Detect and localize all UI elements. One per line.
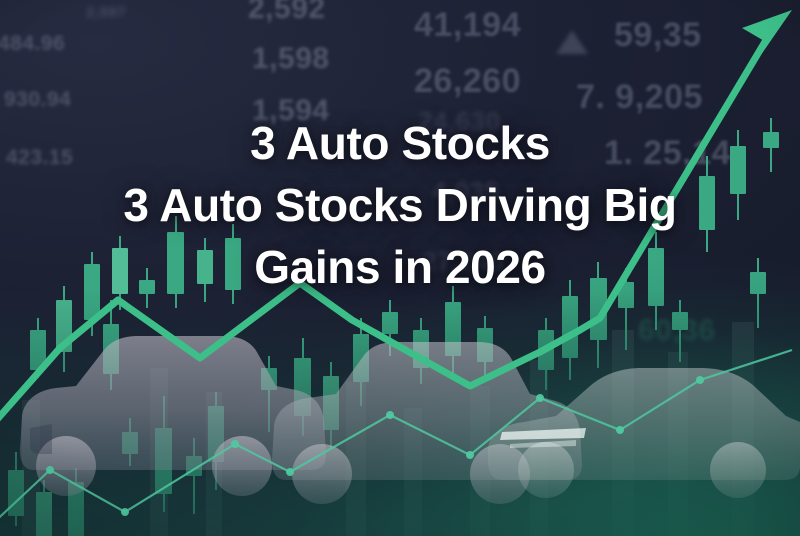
title-line-1: 3 Auto Stocks: [0, 112, 800, 174]
title-line-3: Gains in 2026: [0, 236, 800, 298]
page-title: 3 Auto Stocks 3 Auto Stocks Driving Big …: [0, 112, 800, 298]
arrowhead-icon: [742, 10, 792, 62]
title-line-2: 3 Auto Stocks Driving Big: [0, 174, 800, 236]
hero-banner: 2,597 484.96 930.94 423.15 2,592 1,598 1…: [0, 0, 800, 536]
